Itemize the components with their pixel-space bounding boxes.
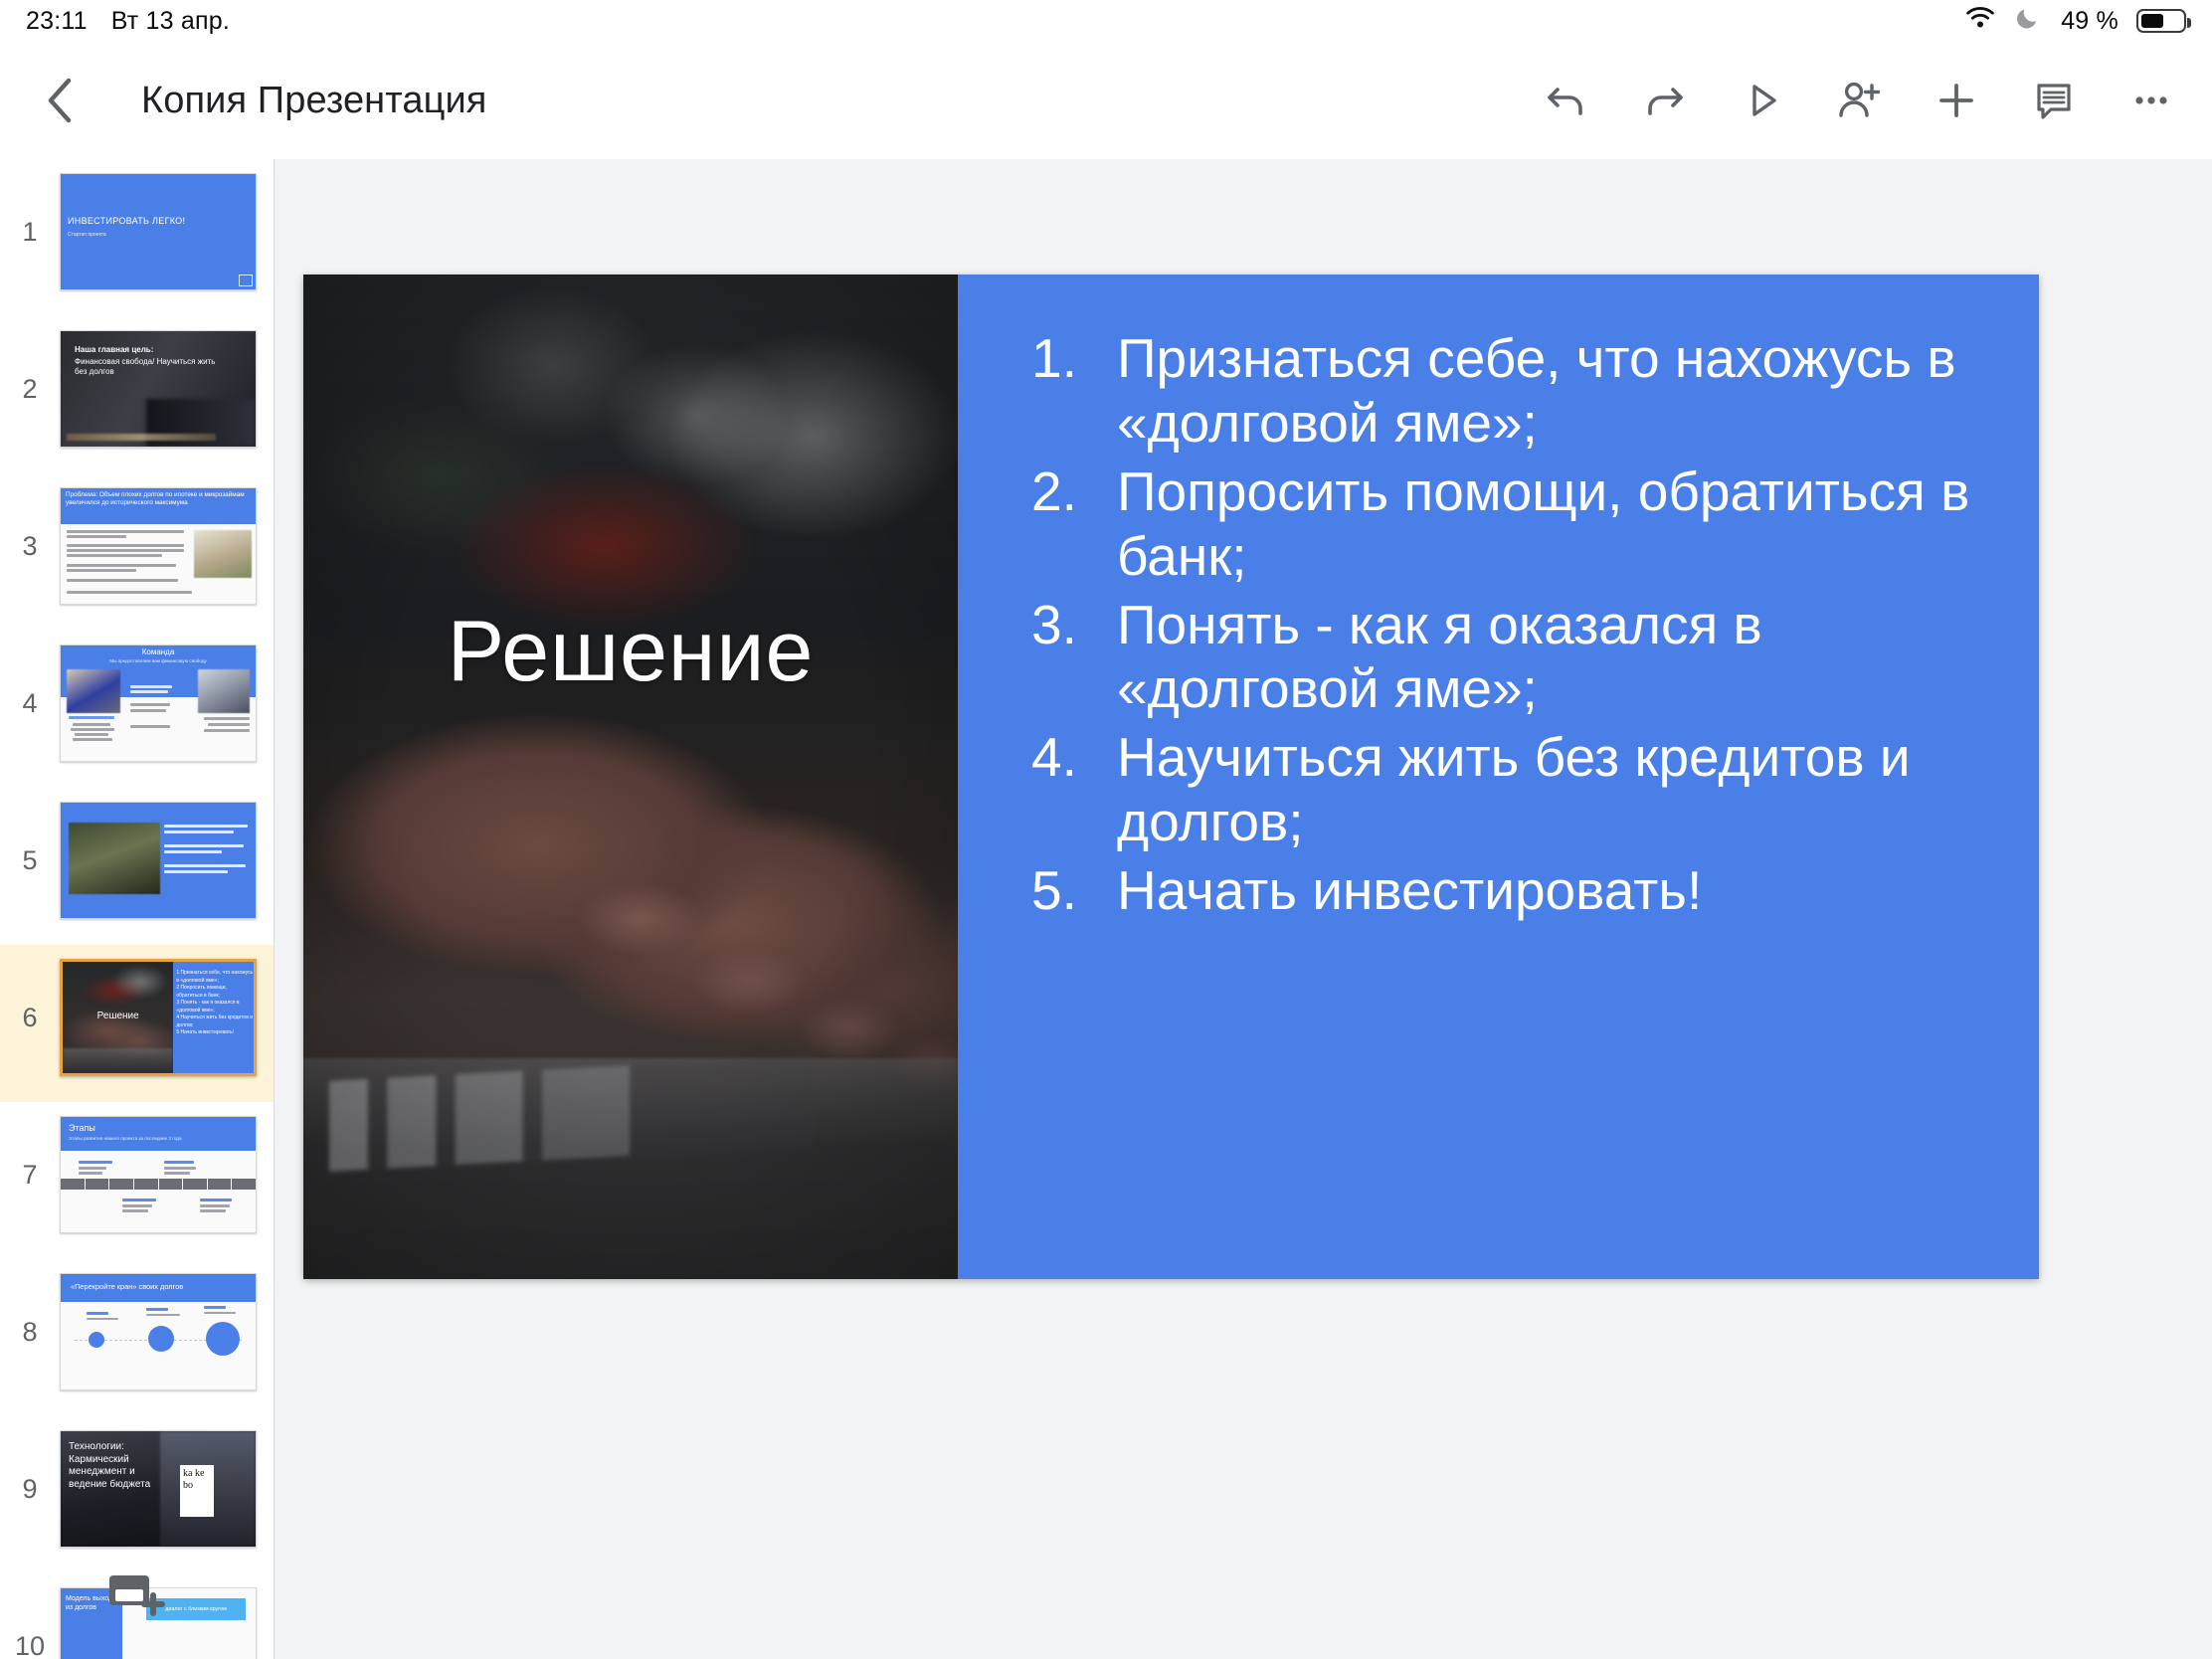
thumb-title: Проблема: Объем плохих долгов по ипотеке… (66, 491, 251, 507)
list-item-text: Начать инвестировать! (1117, 858, 1983, 923)
slide-thumbnail[interactable]: Наша главная цель: Финансовая свобода/ Н… (60, 330, 257, 448)
comments-button[interactable] (2023, 70, 2085, 131)
thumb-canvas: Этапы Этапы развития нашего проекта за п… (61, 1117, 256, 1232)
status-bar: 23:11 Вт 13 апр. 49 % (0, 0, 2212, 42)
solution-steps-list[interactable]: 1. Признаться себе, что нахожусь в «долг… (1019, 326, 1983, 923)
list-item-text: Понять - как я оказался в «долговой яме»… (1117, 593, 1983, 722)
slide-filmstrip[interactable]: 1 ИНВЕСТИРОВАТЬ ЛЕГКО! Стартап проекта 2… (0, 159, 275, 1659)
slide-number: 9 (0, 1430, 60, 1505)
share-button[interactable] (1828, 70, 1890, 131)
more-button[interactable] (2120, 70, 2182, 131)
filmstrip-slide-4[interactable]: 4 Команда Мы предоставляем вам финансову… (0, 631, 274, 788)
thumb-canvas (61, 803, 256, 918)
list-item-text: Признаться себе, что нахожусь в «долгово… (1117, 326, 1983, 456)
list-item[interactable]: 5. Начать инвестировать! (1019, 858, 1983, 923)
thumb-body: Финансовая свобода/ Научиться жить без д… (75, 357, 224, 377)
thumb-title: Технологии: Кармический менеджмент и вед… (69, 1441, 172, 1491)
thumb-canvas: Команда Мы предоставляем вам финансовую … (61, 645, 256, 761)
battery-percent-label: 49 % (2061, 7, 2119, 36)
filmstrip-slide-3[interactable]: 3 Проблема: Объем плохих долгов по ипоте… (0, 473, 274, 631)
thumb-title: «Перекройте кран» своих долгов (71, 1282, 183, 1291)
slide-number: 8 (0, 1273, 60, 1348)
thumb-canvas: «Перекройте кран» своих долгов (61, 1274, 256, 1389)
thumb-canvas: Проблема: Объем плохих долгов по ипотеке… (61, 488, 256, 604)
status-bar-left: 23:11 Вт 13 апр. (26, 7, 230, 36)
slide-thumbnail[interactable]: Команда Мы предоставляем вам финансовую … (60, 645, 257, 762)
person-add-icon (1832, 76, 1886, 125)
insert-button[interactable] (1926, 70, 1987, 131)
slide-thumbnail[interactable]: Этапы Этапы развития нашего проекта за п… (60, 1116, 257, 1233)
add-slide-button[interactable] (99, 1560, 173, 1633)
slide-number: 5 (0, 802, 60, 876)
thumb-badge: ka ke bo (180, 1465, 214, 1517)
photo-vignette (303, 275, 958, 1279)
list-item[interactable]: 3. Понять - как я оказался в «долговой я… (1019, 593, 1983, 722)
thumb-subtitle: Стартап проекта (68, 232, 187, 238)
back-button[interactable] (26, 66, 95, 135)
play-triangle-icon (1737, 76, 1786, 125)
list-item-number: 2. (1019, 460, 1117, 589)
list-item[interactable]: 1. Признаться себе, что нахожусь в «долг… (1019, 326, 1983, 456)
thumb-image (194, 530, 252, 578)
slide-thumbnail[interactable]: Решение 1 Признаться себе, что нахожусь … (60, 959, 257, 1076)
thumb-title: Наша главная цель: (75, 345, 234, 355)
list-item-number: 1. (1019, 326, 1117, 456)
thumb-photo-strip (67, 434, 216, 441)
present-button[interactable] (1731, 70, 1792, 131)
slide-thumbnail[interactable]: «Перекройте кран» своих долгов (60, 1273, 257, 1390)
slide-text-panel[interactable]: 1. Признаться себе, что нахожусь в «долг… (958, 275, 2039, 1279)
slide-number: 10 (0, 1587, 60, 1659)
redo-button[interactable] (1633, 70, 1695, 131)
status-bar-right: 49 % (1963, 5, 2186, 38)
undo-button[interactable] (1536, 70, 1597, 131)
comment-icon (2029, 76, 2079, 125)
editor-body: 1 ИНВЕСТИРОВАТЬ ЛЕГКО! Стартап проекта 2… (0, 159, 2212, 1659)
list-item-number: 5. (1019, 858, 1117, 923)
thumb-subtitle: Этапы развития нашего проекта за последн… (69, 1136, 238, 1142)
thumb-shape (239, 275, 253, 286)
thumb-title: Решение (63, 1011, 173, 1023)
thumb-canvas: ИНВЕСТИРОВАТЬ ЛЕГКО! Стартап проекта (61, 174, 256, 289)
slide-image-panel[interactable]: Решение (303, 275, 958, 1279)
thumb-title: Этапы (69, 1123, 95, 1134)
slide-number: 3 (0, 487, 60, 562)
slide-thumbnail[interactable]: Проблема: Объем плохих долгов по ипотеке… (60, 487, 257, 605)
thumb-title: Команда (61, 647, 256, 657)
filmstrip-slide-9[interactable]: 9 Технологии: Кармический менеджмент и в… (0, 1416, 274, 1573)
list-item[interactable]: 2. Попросить помощи, обратиться в банк; (1019, 460, 1983, 589)
slide-number: 2 (0, 330, 60, 405)
plus-icon (1932, 76, 1981, 125)
thumb-photo (69, 823, 160, 894)
slide-thumbnail[interactable]: ИНВЕСТИРОВАТЬ ЛЕГКО! Стартап проекта (60, 173, 257, 290)
list-item-number: 3. (1019, 593, 1117, 722)
filmstrip-slide-6[interactable]: 6 Решение 1 Признаться себе, что нахожус… (0, 945, 274, 1102)
thumb-timeline-bar (61, 1179, 256, 1190)
list-item-text: Попросить помощи, обратиться в банк; (1117, 460, 1983, 589)
thumb-header: Проблема: Объем плохих долгов по ипотеке… (61, 488, 256, 524)
thumb-header: «Перекройте кран» своих долгов (61, 1274, 256, 1302)
list-item[interactable]: 4. Научиться жить без кредитов и долгов; (1019, 725, 1983, 854)
document-title[interactable]: Копия Презентация (141, 80, 486, 122)
slide-number: 6 (0, 959, 60, 1033)
filmstrip-slide-7[interactable]: 7 Этапы Этапы развития нашего проекта за… (0, 1102, 274, 1259)
thumb-canvas: Наша главная цель: Финансовая свобода/ Н… (61, 331, 256, 447)
battery-icon (2136, 9, 2186, 33)
thumb-title: ИНВЕСТИРОВАТЬ ЛЕГКО! (68, 216, 242, 227)
slide-thumbnail[interactable] (60, 802, 257, 919)
redo-icon (1639, 76, 1689, 125)
filmstrip-slide-5[interactable]: 5 (0, 788, 274, 945)
slide-number: 1 (0, 173, 60, 248)
slide-canvas-area[interactable]: Решение 1. Признаться себе, что нахожусь… (275, 159, 2212, 1659)
app-bar: Копия Презентация (0, 42, 2212, 159)
thumb-header: Этапы Этапы развития нашего проекта за п… (61, 1117, 256, 1151)
slide-number: 7 (0, 1116, 60, 1191)
thumb-subtitle: Мы предоставляем вам финансовую свободу (61, 658, 256, 664)
filmstrip-slide-8[interactable]: 8 «Перекройте кран» своих долгов (0, 1259, 274, 1416)
current-slide[interactable]: Решение 1. Признаться себе, что нахожусь… (303, 275, 2039, 1279)
toolbar (1536, 70, 2182, 131)
thumb-canvas: Решение 1 Признаться себе, что нахожусь … (63, 962, 254, 1073)
moon-do-not-disturb-icon (2015, 5, 2041, 38)
filmstrip-slide-2[interactable]: 2 Наша главная цель: Финансовая свобода/… (0, 316, 274, 473)
status-date: Вт 13 апр. (111, 7, 230, 36)
more-horizontal-icon (2126, 76, 2176, 125)
thumb-photo (67, 669, 120, 713)
list-item-number: 4. (1019, 725, 1117, 854)
wifi-icon (1963, 5, 1997, 38)
thumb-bullets: 1 Признаться себе, что нахожусь в «долго… (176, 970, 254, 1037)
slide-number: 4 (0, 645, 60, 719)
slide-thumbnail[interactable]: Технологии: Кармический менеджмент и вед… (60, 1430, 257, 1548)
back-chevron-icon (41, 75, 81, 126)
status-time: 23:11 (26, 7, 88, 36)
filmstrip-slide-1[interactable]: 1 ИНВЕСТИРОВАТЬ ЛЕГКО! Стартап проекта (0, 159, 274, 316)
slide-title[interactable]: Решение (303, 603, 958, 701)
add-slide-icon (105, 1567, 167, 1625)
list-item-text: Научиться жить без кредитов и долгов; (1117, 725, 1983, 854)
thumb-photo (198, 669, 250, 713)
thumb-canvas: Технологии: Кармический менеджмент и вед… (61, 1431, 256, 1547)
undo-icon (1542, 76, 1591, 125)
